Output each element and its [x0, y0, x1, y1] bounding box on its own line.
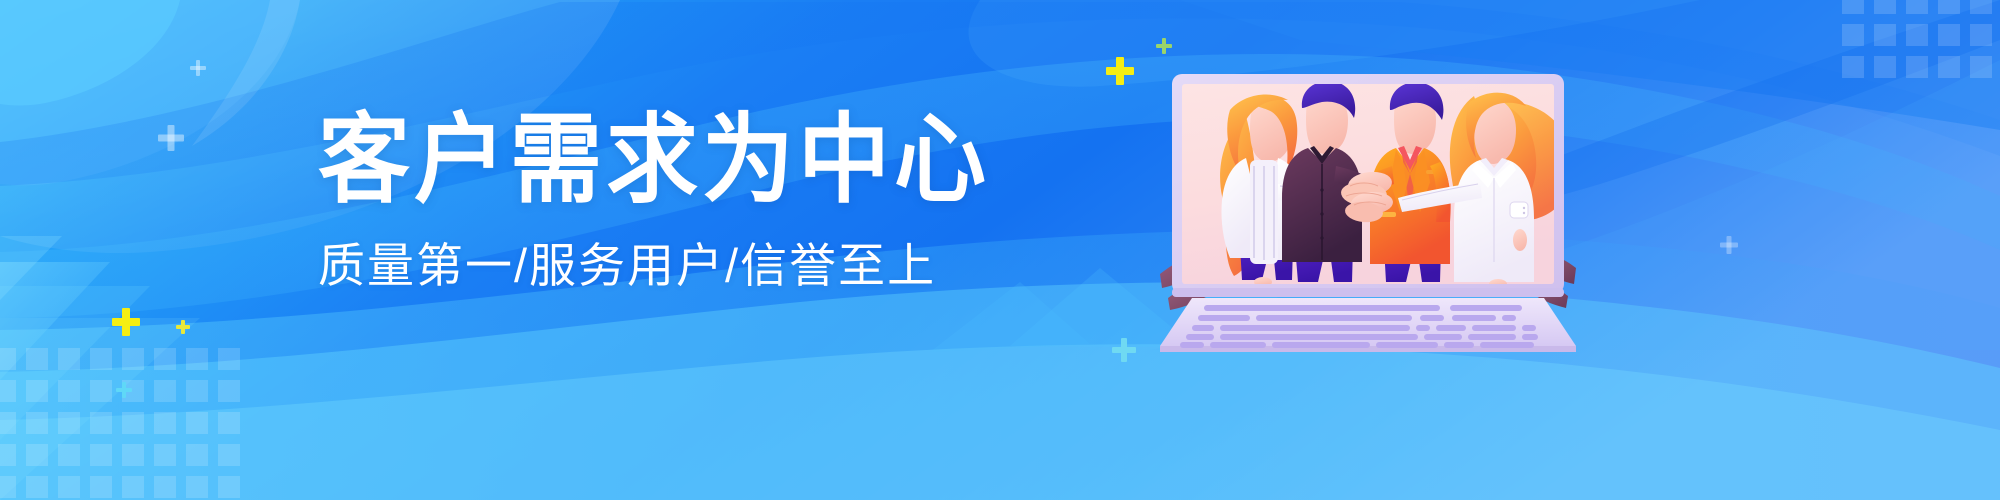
- banner-subtitle: 质量第一/服务用户/信誉至上: [318, 240, 1018, 292]
- laptop-lid-lip: [1172, 288, 1564, 297]
- banner-headline: 客户需求为中心: [318, 112, 1018, 211]
- banner-text-block: 客户需求为中心 质量第一/服务用户/信誉至上: [318, 112, 1018, 292]
- teamwork-scene: [1220, 81, 1572, 289]
- laptop-teamwork-illustration: [1158, 62, 1578, 352]
- promo-banner: 客户需求为中心 质量第一/服务用户/信誉至上: [0, 0, 2000, 500]
